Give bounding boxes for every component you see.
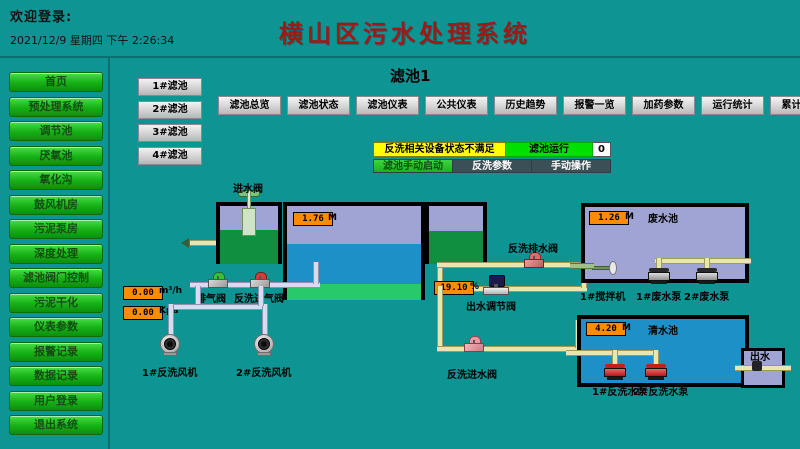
pump-base-icon (651, 281, 667, 284)
blower-branch-header (168, 304, 268, 310)
button-filter-manual-start[interactable]: 滤池手动启动 (373, 159, 453, 173)
inlet-valve-label: 进水阀 (233, 180, 263, 195)
inlet-gate-valve[interactable] (238, 190, 260, 260)
pump-base-icon (699, 281, 715, 284)
outlet-chamber-water (429, 231, 483, 264)
welcome-label: 欢迎登录: (10, 6, 72, 25)
waste-pump-1[interactable] (648, 268, 670, 284)
backwash-inlet-downcomer (437, 286, 443, 348)
sidebar-item-equalization-tank[interactable]: 调节池 (9, 121, 103, 141)
backwash-drain-valve-label: 反洗排水阀 (508, 240, 558, 255)
outlet-chamber (425, 202, 487, 264)
sidebar-item-exit-system[interactable]: 退出系统 (9, 415, 103, 435)
filter-level-value: 1.76 (293, 212, 333, 226)
backwash-pump-2-label: 2#反洗水泵 (633, 383, 688, 398)
blower-foot-icon (163, 352, 177, 356)
blower-branch-riser-left (195, 286, 201, 306)
valve-body-icon (483, 287, 509, 295)
exhaust-valve[interactable] (208, 272, 228, 288)
mixer-inlet-pipe (570, 263, 594, 269)
blower-2[interactable] (252, 334, 276, 356)
air-flow-unit: m³/h (159, 286, 182, 296)
backwash-inlet-valve[interactable] (464, 336, 484, 352)
tab-total-flow[interactable]: 累计流量 (770, 96, 800, 115)
datetime-label: 2021/12/9 星期四 下午 2:26:34 (10, 32, 174, 48)
sidebar-item-blower-room[interactable]: 鼓风机房 (9, 195, 103, 215)
sidebar-item-alarm-log[interactable]: 报警记录 (9, 342, 103, 362)
toolbar: 滤池总览 滤池状态 滤池仪表 公共仪表 历史趋势 报警一览 加药参数 运行统计 … (218, 96, 800, 115)
sidebar-item-pretreatment[interactable]: 预处理系统 (9, 97, 103, 117)
filter-select-4[interactable]: 4#滤池 (138, 147, 202, 165)
sidebar-item-user-login[interactable]: 用户登录 (9, 391, 103, 411)
filter-select-3[interactable]: 3#滤池 (138, 124, 202, 142)
waste-pump-2[interactable] (696, 268, 718, 284)
sidebar: 首页 预处理系统 调节池 厌氧池 氧化沟 鼓风机房 污泥泵房 深度处理 滤池阀门… (9, 72, 101, 440)
tab-alarm-list[interactable]: 报警一览 (563, 96, 626, 115)
blower-branch-riser-right (258, 286, 264, 306)
tab-filter-overview[interactable]: 滤池总览 (218, 96, 281, 115)
outlet-regulating-valve-label: 出水调节阀 (466, 298, 516, 313)
blower-2-label: 2#反洗风机 (236, 364, 291, 379)
waste-tank-level-value: 1.26 (589, 211, 629, 225)
backwash-pump-2[interactable] (645, 364, 667, 380)
backwash-drain-header (437, 262, 587, 268)
mixer-shaft-icon (592, 266, 610, 270)
mixer-blade-icon (609, 261, 617, 275)
blower-1-label: 1#反洗风机 (142, 364, 197, 379)
sidebar-item-data-log[interactable]: 数据记录 (9, 366, 103, 386)
button-backwash-params[interactable]: 反洗参数 (453, 159, 532, 173)
outlet-valve-unit: % (470, 282, 479, 292)
screen-title: 滤池1 (390, 65, 430, 86)
blower-impeller-icon (258, 338, 270, 350)
valve-body-icon (208, 279, 228, 288)
outlet-regulating-valve[interactable] (483, 275, 509, 295)
valve-body-icon (524, 259, 544, 268)
status-strip: 反洗相关设备状态不满足 滤池运行 0 滤池手动启动 反洗参数 手动操作 (373, 142, 611, 173)
tab-run-statistics[interactable]: 运行统计 (701, 96, 764, 115)
sidebar-divider (108, 56, 110, 449)
backwash-pump-1[interactable] (604, 364, 626, 380)
clean-water-tank-title: 清水池 (648, 322, 678, 337)
pump-body-icon (645, 368, 667, 377)
blower2-downcomer (262, 304, 268, 336)
filter-select-1[interactable]: 1#滤池 (138, 78, 202, 96)
tab-dosing-params[interactable]: 加药参数 (632, 96, 695, 115)
effluent-label: 出水 (750, 348, 770, 363)
status-badge-alarm: 反洗相关设备状态不满足 (373, 142, 506, 157)
waste-pump-2-label: 2#废水泵 (684, 288, 729, 303)
backwash-inlet-header (437, 346, 581, 352)
tab-common-instruments[interactable]: 公共仪表 (425, 96, 488, 115)
air-riser-pipe (313, 262, 319, 284)
header-divider (0, 56, 800, 58)
valve-body-icon (464, 343, 484, 352)
pump-body-icon (604, 368, 626, 377)
waste-tank-mixer-label: 1#搅拌机 (580, 288, 625, 303)
tab-filter-instruments[interactable]: 滤池仪表 (356, 96, 419, 115)
filter-select-2[interactable]: 2#滤池 (138, 101, 202, 119)
sidebar-item-anaerobic-tank[interactable]: 厌氧池 (9, 146, 103, 166)
clean-tank-level-unit: M (622, 323, 631, 333)
valve-plate-icon (242, 208, 256, 236)
sidebar-item-sludge-drying[interactable]: 污泥干化 (9, 293, 103, 313)
page-title: 横山区污水处理系统 (250, 14, 560, 49)
blower1-downcomer (168, 304, 174, 336)
pump-body-icon (696, 272, 718, 281)
waste-tank-level-unit: M (625, 212, 634, 222)
sidebar-item-sludge-pump-room[interactable]: 污泥泵房 (9, 219, 103, 239)
blower-1[interactable] (158, 334, 182, 356)
blower-foot-icon (257, 352, 271, 356)
filter-basin-water (287, 244, 421, 284)
inlet-flow-arrow-icon (181, 238, 189, 248)
waste-water-tank-title: 废水池 (648, 210, 678, 225)
clean-tank-level-value: 4.20 (586, 322, 626, 336)
filter-selector-group: 1#滤池 2#滤池 3#滤池 4#滤池 (138, 78, 200, 170)
pump-base-icon (607, 377, 623, 380)
button-manual-operation[interactable]: 手动操作 (532, 159, 611, 173)
air-pressure-value: 0.00 (123, 306, 163, 320)
pump-body-icon (648, 272, 670, 281)
waste-pump-1-label: 1#废水泵 (636, 288, 681, 303)
sidebar-item-filter-valve-control[interactable]: 滤池阀门控制 (9, 268, 103, 288)
status-counter: 0 (593, 142, 611, 157)
pump-base-icon (648, 377, 664, 380)
filter-level-unit: M (328, 213, 337, 223)
air-flow-value: 0.00 (123, 286, 163, 300)
status-badge-running: 滤池运行 (506, 142, 593, 157)
waste-tank-mixer[interactable] (592, 261, 618, 275)
sidebar-item-home[interactable]: 首页 (9, 72, 103, 92)
tab-filter-status[interactable]: 滤池状态 (287, 96, 350, 115)
sidebar-item-advanced-treatment[interactable]: 深度处理 (9, 244, 103, 264)
sidebar-item-instrument-params[interactable]: 仪表参数 (9, 317, 103, 337)
backwash-inlet-valve-label: 反洗进水阀 (447, 366, 497, 381)
waste-pump-discharge-header (655, 258, 751, 264)
blower-impeller-icon (164, 338, 176, 350)
sidebar-item-oxidation-ditch[interactable]: 氧化沟 (9, 170, 103, 190)
tab-history-trend[interactable]: 历史趋势 (494, 96, 557, 115)
effluent-pipe (735, 365, 791, 371)
